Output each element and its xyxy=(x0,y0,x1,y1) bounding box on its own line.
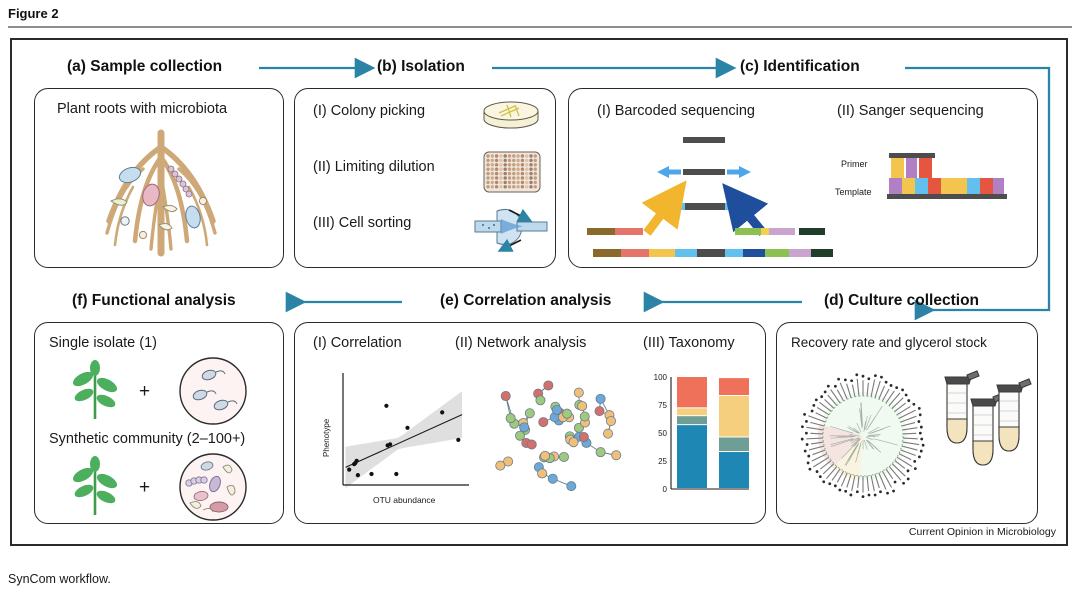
plant-roots-illustration xyxy=(73,129,248,259)
flow-cytometry-icon xyxy=(475,205,547,249)
svg-text:0: 0 xyxy=(663,485,668,494)
svg-text:50: 50 xyxy=(658,429,667,438)
panel-e-header: (e) Correlation analysis xyxy=(440,292,611,310)
panel-a-card: Plant roots with microbiota xyxy=(34,88,284,268)
panel-e-item-0-label: (I) Correlation xyxy=(313,335,402,351)
figure-number: Figure 2 xyxy=(0,0,1080,21)
panel-f-header: (f) Functional analysis xyxy=(72,292,236,310)
svg-text:75: 75 xyxy=(658,401,667,410)
panel-b-item-2-label: (III) Cell sorting xyxy=(313,215,411,231)
figure-frame: (a) Sample collection (b) Isolation (c) … xyxy=(10,38,1068,546)
panel-b-item-0-label: (I) Colony picking xyxy=(313,103,425,119)
panel-d-card-title: Recovery rate and glycerol stock xyxy=(791,335,987,350)
journal-credit: Current Opinion in Microbiology xyxy=(909,526,1056,538)
synthetic-community-circle xyxy=(175,451,251,523)
panel-c-header: (c) Identification xyxy=(740,58,860,76)
panel-e-item-1-label: (II) Network analysis xyxy=(455,335,586,351)
taxonomy-stacked-bar-chart: 0255075100 xyxy=(645,363,755,513)
seedling-icon-single xyxy=(65,359,125,421)
microplate-icon xyxy=(483,151,541,193)
panel-f-row-1-label: Synthetic community (2–100+) xyxy=(49,431,245,447)
scatter-ylabel: Phenotype xyxy=(322,418,331,457)
panel-c-item-0-label: (I) Barcoded sequencing xyxy=(597,103,755,119)
panel-f-card: Single isolate (1) Synthetic community (… xyxy=(34,322,284,524)
panel-e-card: (I) Correlation (II) Network analysis (I… xyxy=(294,322,766,524)
svg-text:25: 25 xyxy=(658,457,667,466)
plus-sign-single: + xyxy=(139,381,150,403)
panel-c-card: (I) Barcoded sequencing (II) Sanger sequ… xyxy=(568,88,1038,268)
panel-d-header: (d) Culture collection xyxy=(824,292,979,310)
arrow-e-to-f xyxy=(274,294,424,316)
scatter-xlabel: OTU abundance xyxy=(373,495,436,505)
figure-caption: SynCom workflow. xyxy=(8,572,111,586)
panel-a-header: (a) Sample collection xyxy=(67,58,222,76)
panel-b-header: (b) Isolation xyxy=(377,58,465,76)
svg-text:100: 100 xyxy=(654,373,668,382)
panel-b-item-1-label: (II) Limiting dilution xyxy=(313,159,435,175)
network-analysis-graph xyxy=(463,367,639,507)
sanger-template-label: Template xyxy=(835,187,872,197)
single-isolate-circle xyxy=(175,355,251,427)
arrow-b-to-c xyxy=(490,60,740,82)
panel-c-item-1-label: (II) Sanger sequencing xyxy=(837,103,984,119)
seedling-icon-syncom xyxy=(65,455,125,517)
arrow-d-to-e xyxy=(632,294,817,316)
sanger-primer-label: Primer xyxy=(841,159,868,169)
panel-a-card-title: Plant roots with microbiota xyxy=(57,101,227,117)
panel-f-row-0-label: Single isolate (1) xyxy=(49,335,157,351)
panel-e-item-2-label: (III) Taxonomy xyxy=(643,335,735,351)
header-divider xyxy=(8,26,1072,28)
arrow-a-to-b xyxy=(257,60,377,82)
petri-dish-icon xyxy=(481,97,541,131)
glycerol-stock-tubes-icon xyxy=(941,369,1033,501)
panel-d-card: Recovery rate and glycerol stock xyxy=(776,322,1038,524)
barcoded-sequencing-diagram xyxy=(585,133,825,259)
phylogenetic-tree-icon xyxy=(789,361,937,511)
correlation-scatter-chart: Phenotype OTU abundance xyxy=(317,367,477,512)
plus-sign-syncom: + xyxy=(139,477,150,499)
sanger-sequencing-diagram xyxy=(887,149,1017,209)
panel-b-card: (I) Colony picking (II) Limiting dilutio… xyxy=(294,88,556,268)
